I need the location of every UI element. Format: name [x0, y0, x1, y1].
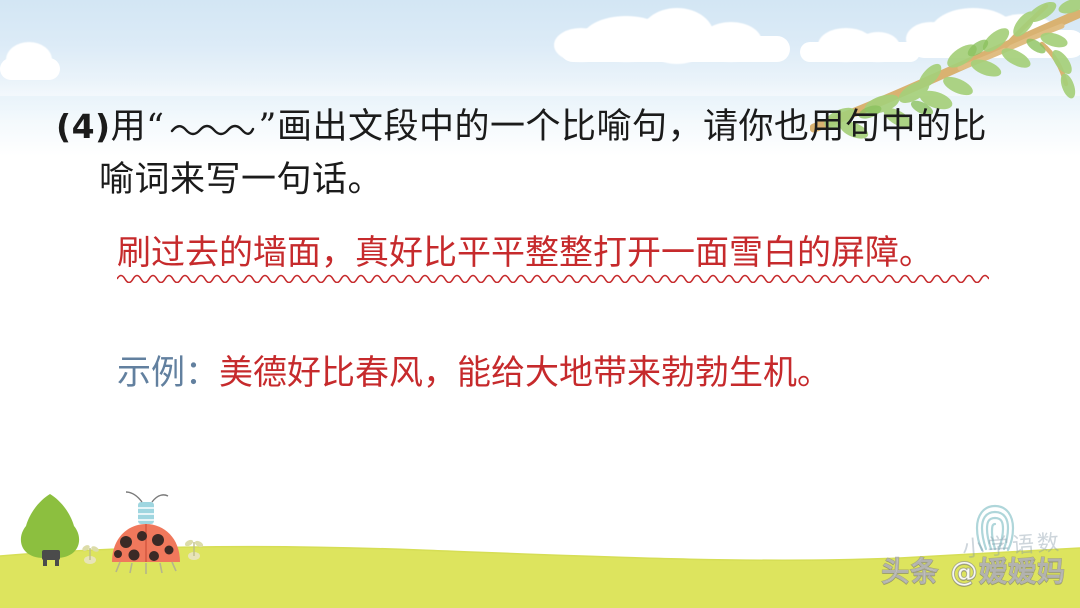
question-number: (4)	[56, 107, 111, 146]
bottom-left-decoration	[6, 488, 236, 578]
wavy-line-mark-icon	[169, 104, 255, 148]
answer-wavy-underline	[117, 268, 989, 280]
example-label: 示例：	[117, 353, 219, 393]
bush-icon	[21, 494, 79, 566]
slide-canvas: (4)用“”画出文段中的一个比喻句，请你也用句中的比 喻词来写一句话。 刷过去的…	[0, 0, 1080, 608]
ladybug-icon	[112, 492, 180, 574]
question-line-1: (4)用“”画出文段中的一个比喻句，请你也用句中的比	[56, 105, 987, 151]
sprout-icon	[184, 538, 204, 560]
question-line-2: 喻词来写一句话。	[99, 158, 383, 202]
example-text: 美德好比春风，能给大地带来勃勃生机。	[219, 353, 831, 393]
sprout-icon	[81, 544, 99, 564]
example-line: 示例：美德好比春风，能给大地带来勃勃生机。	[117, 352, 831, 394]
question-text-before-mark: 用“	[111, 107, 165, 147]
question-text-after-mark: ”画出文段中的一个比喻句，请你也用句中的比	[259, 107, 987, 147]
